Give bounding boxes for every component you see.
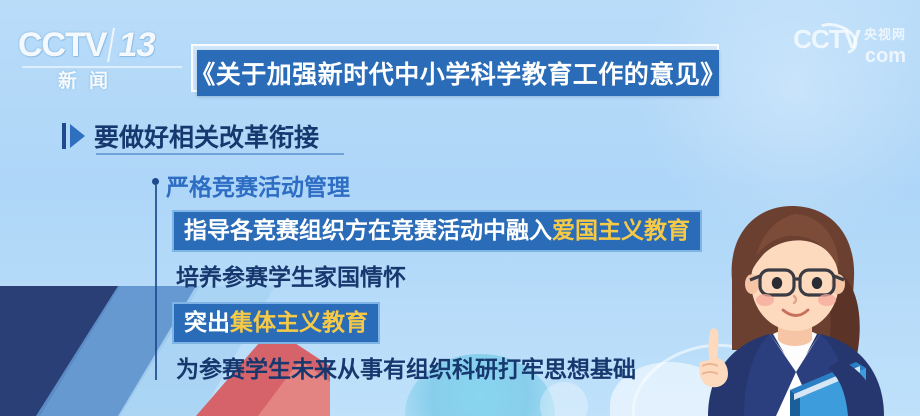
list-item: 培养参赛学生家国情怀 [172, 254, 702, 300]
teacher-illustration [670, 184, 920, 416]
list-item: 为参赛学生未来从事有组织科研打牢思想基础 [172, 346, 702, 392]
vertical-connector-line [155, 185, 157, 380]
title-banner: 《关于加强新时代中小学科学教育工作的意见》 [191, 44, 719, 96]
body-text: 为参赛学生未来从事有组织科研打牢思想基础 [176, 356, 636, 382]
list-item-text: 培养参赛学生家国情怀 [172, 266, 406, 289]
list-item: 指导各竞赛组织方在竞赛活动中融入爱国主义教育 [172, 208, 702, 254]
logo-main-row: CCTV13 [18, 28, 193, 62]
body-text: 培养参赛学生家国情怀 [176, 264, 406, 290]
logo-channel-number: 13 [107, 28, 158, 62]
title-banner-bar: 《关于加强新时代中小学科学教育工作的意见》 [197, 50, 719, 96]
cctv-com-watermark: CCTV 央视网 com [793, 26, 906, 66]
body-text: 指导各竞赛组织方在竞赛活动中融入 [184, 217, 552, 243]
heading-text: 要做好相关改革衔接 [94, 118, 319, 154]
logo-subtitle: 新闻 [58, 66, 193, 93]
sub-heading-bullet-dot [152, 178, 159, 185]
section-heading: 要做好相关改革衔接 [62, 118, 319, 154]
heading-bar-icon [62, 123, 66, 149]
sub-heading-text: 严格竞赛活动管理 [166, 168, 350, 202]
heading-underline [96, 153, 344, 155]
logo-rule [22, 66, 182, 68]
body-text: 突出 [184, 309, 230, 335]
heading-marker-icon [62, 123, 85, 149]
bullet-list: 指导各竞赛组织方在竞赛活动中融入爱国主义教育培养参赛学生家国情怀突出集体主义教育… [172, 208, 702, 392]
emphasis-text: 集体主义教育 [230, 309, 368, 335]
list-item-highlight-box: 突出集体主义教育 [172, 302, 380, 344]
watermark-cn-text: 央视网 [864, 28, 906, 41]
triangle-right-icon [70, 124, 85, 148]
logo-cctv-text: CCTV [18, 26, 107, 64]
broadcast-screen: CCTV13 新闻 CCTV 央视网 com 《关于加强新时代中小学科学教育工作… [0, 0, 920, 416]
list-item: 突出集体主义教育 [172, 300, 702, 346]
list-item-highlight-box: 指导各竞赛组织方在竞赛活动中融入爱国主义教育 [172, 210, 702, 252]
page-title: 《关于加强新时代中小学科学教育工作的意见》 [190, 55, 726, 91]
cctv13-logo: CCTV13 新闻 [18, 28, 193, 90]
list-item-text: 为参赛学生未来从事有组织科研打牢思想基础 [172, 358, 636, 381]
